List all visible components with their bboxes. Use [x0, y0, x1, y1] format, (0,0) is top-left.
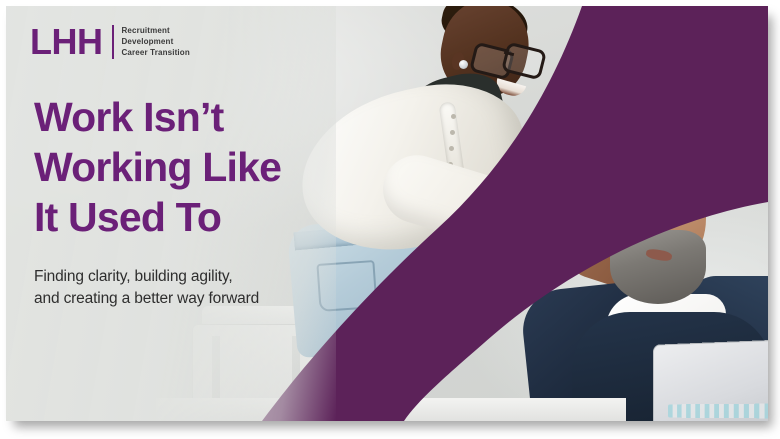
woman-shirt-button: [450, 130, 455, 135]
woman-shirt-button: [451, 114, 456, 119]
lhh-wordmark: LHH: [30, 24, 103, 60]
headline-line-1: Work Isn’t: [34, 92, 334, 142]
laptop-keyboard: [668, 404, 768, 419]
slide-card: LHH Recruitment Development Career Trans…: [6, 6, 768, 421]
page-title: Work Isn’t Working Like It Used To: [34, 92, 334, 242]
subtitle-line-1: Finding clarity, building agility,: [34, 266, 324, 288]
logo-divider: [112, 25, 114, 59]
man-glasses-bridge: [642, 202, 650, 204]
man-beard: [610, 230, 706, 304]
headline-line-2: Working Like: [34, 142, 334, 192]
logo-taglines: Recruitment Development Career Transitio…: [122, 26, 190, 58]
woman-shirt-button: [449, 146, 454, 151]
woman-earring: [459, 60, 468, 69]
logo-tagline-development: Development: [122, 37, 190, 47]
headline-line-3: It Used To: [34, 192, 334, 242]
lhh-logo[interactable]: LHH Recruitment Development Career Trans…: [30, 24, 190, 60]
page-subtitle: Finding clarity, building agility, and c…: [34, 266, 324, 310]
subtitle-line-2: and creating a better way forward: [34, 288, 324, 310]
logo-tagline-career-transition: Career Transition: [122, 48, 190, 58]
logo-tagline-recruitment: Recruitment: [122, 26, 190, 36]
